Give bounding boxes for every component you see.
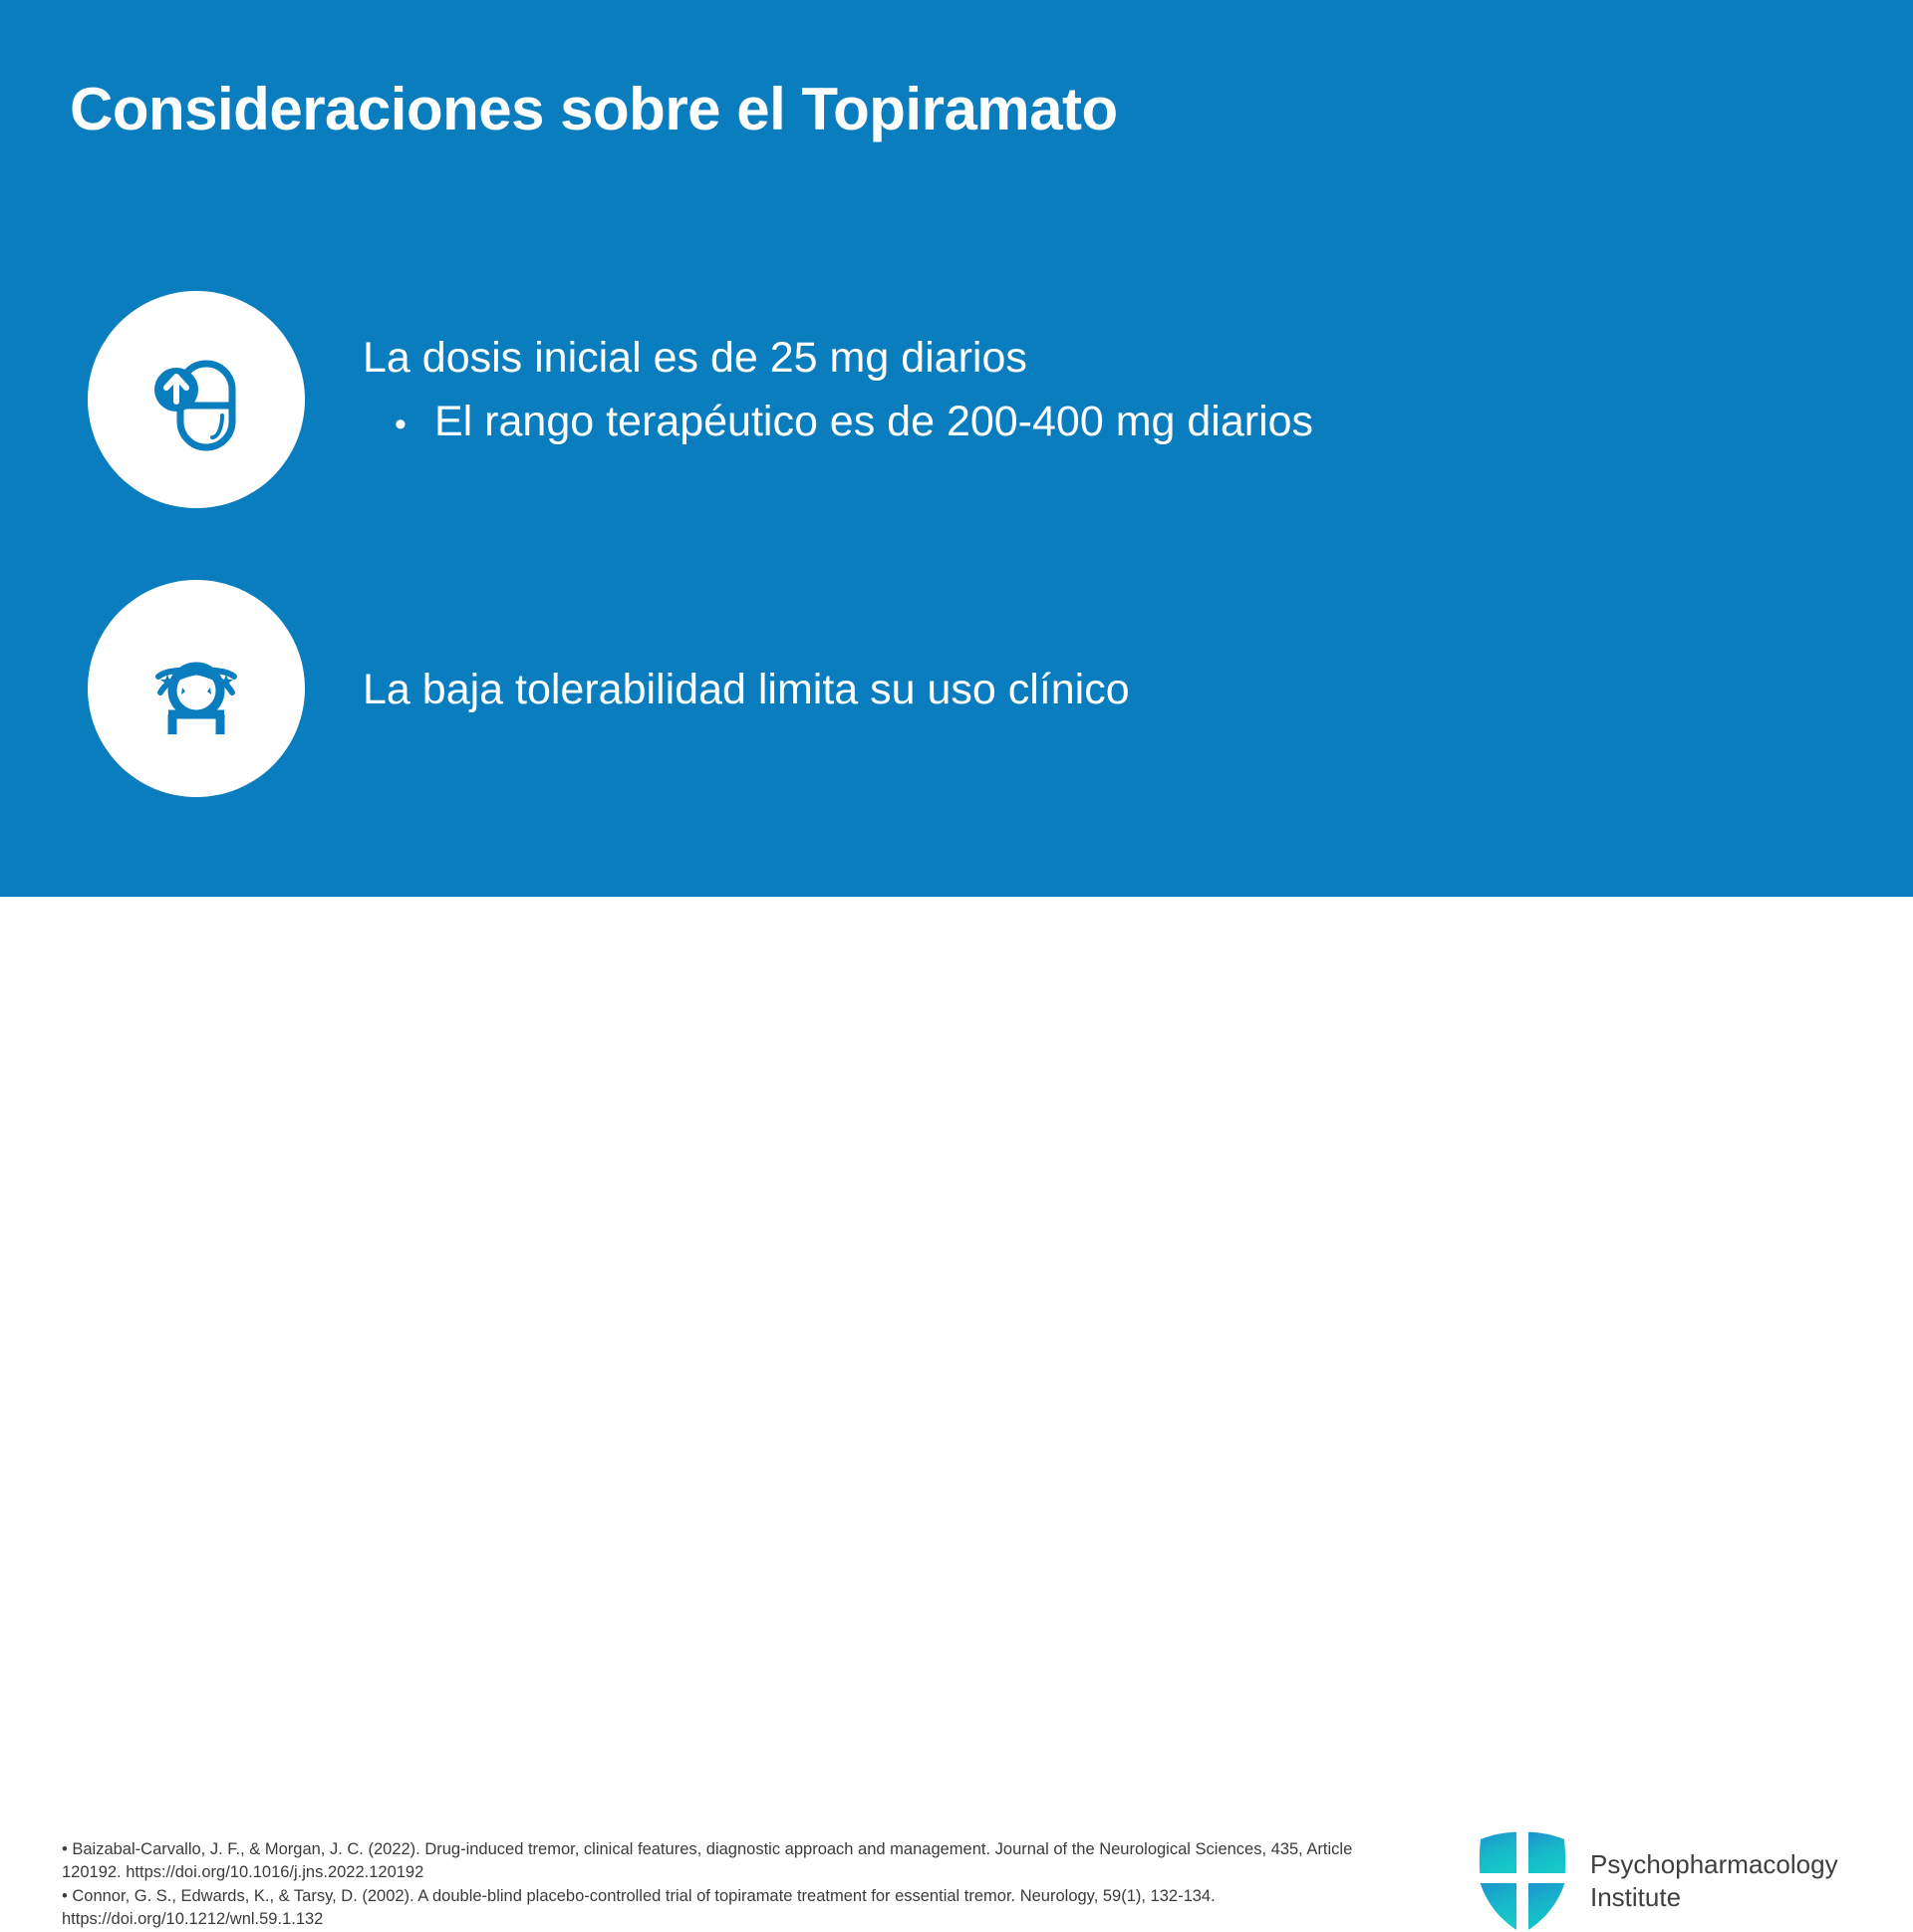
bullet-icon: • [395,408,434,441]
slide: Consideraciones sobre el Topiramato [0,0,1913,1076]
reference-item: • Baizabal-Carvallo, J. F., & Morgan, J.… [62,1838,1397,1885]
references-block: • Baizabal-Carvallo, J. F., & Morgan, J.… [62,1838,1397,1932]
content-item-1: La dosis inicial es de 25 mg diarios • E… [363,331,1837,450]
pill-dose-up-icon [138,342,254,457]
shield-cross-icon [1477,1831,1568,1931]
content-item-1-heading: La dosis inicial es de 25 mg diarios [363,331,1837,387]
logo-line-2: Institute [1590,1881,1838,1914]
content-item-2-heading: La baja tolerabilidad limita su uso clín… [363,663,1837,718]
icon-badge-tolerability [88,580,305,797]
dizziness-head-icon [138,631,254,746]
content-item-2: La baja tolerabilidad limita su uso clín… [363,663,1837,718]
reference-item: • Connor, G. S., Edwards, K., & Tarsy, D… [62,1885,1397,1932]
list-item-label: El rango terapéutico es de 200-400 mg di… [434,395,1313,450]
footer: • Baizabal-Carvallo, J. F., & Morgan, J.… [0,897,1913,1076]
content-item-1-subpoints: • El rango terapéutico es de 200-400 mg … [363,395,1837,450]
icon-badge-dose [88,291,305,508]
logo-wordmark: Psychopharmacology Institute [1590,1848,1838,1915]
list-item: • El rango terapéutico es de 200-400 mg … [363,395,1837,450]
page-title: Consideraciones sobre el Topiramato [70,78,1664,140]
logo-line-1: Psychopharmacology [1590,1848,1838,1881]
brand-logo: Psychopharmacology Institute [1477,1831,1838,1931]
